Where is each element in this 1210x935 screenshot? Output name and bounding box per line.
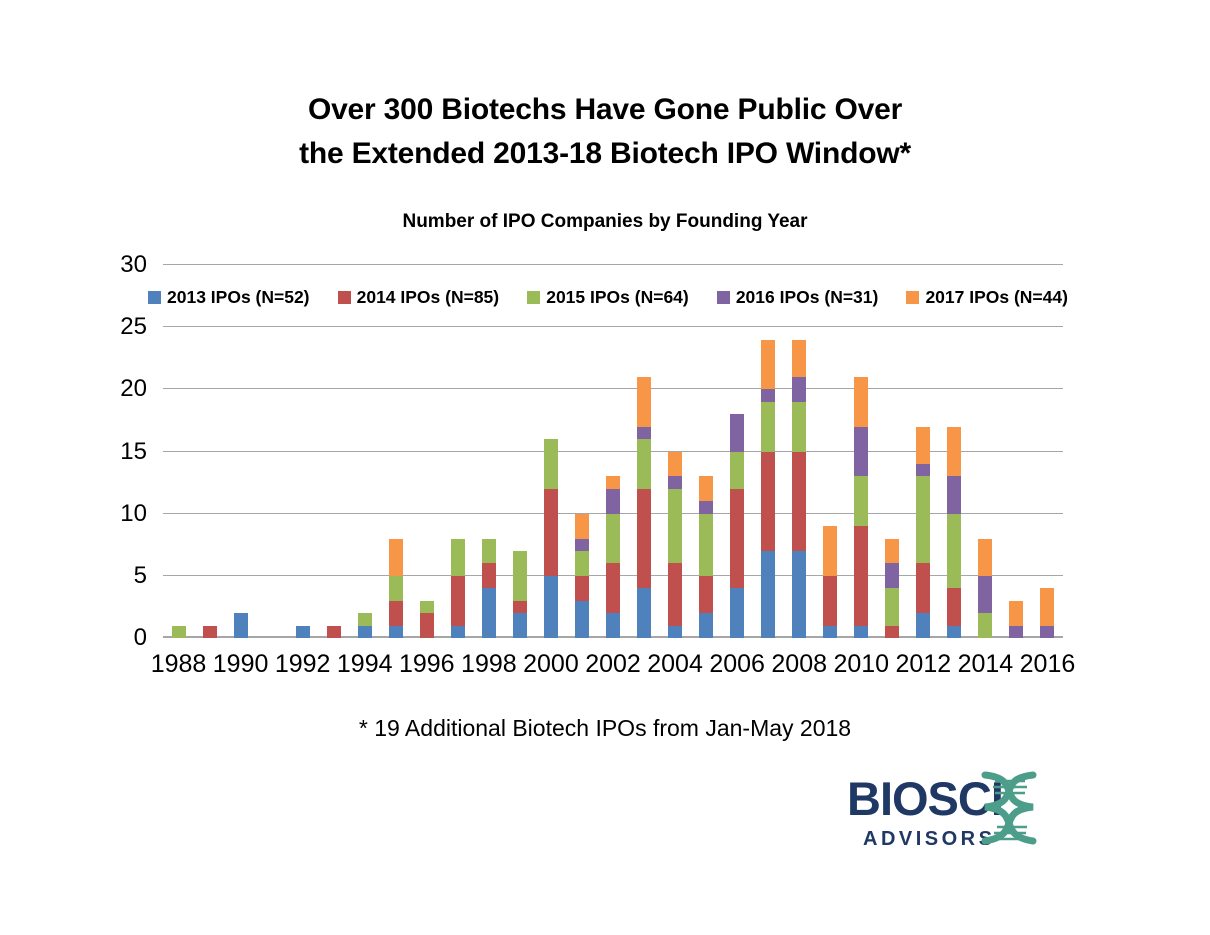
x-tick-label: 1998 xyxy=(454,649,524,679)
plot-area xyxy=(163,265,1063,638)
x-tick-label: 2016 xyxy=(1012,649,1082,679)
bar-segment[interactable] xyxy=(792,402,806,452)
bar-column[interactable] xyxy=(172,626,186,638)
title-line-1: Over 300 Biotechs Have Gone Public Over xyxy=(0,88,1210,132)
bar-segment[interactable] xyxy=(172,626,186,638)
logo-wordmark: BIOSCI xyxy=(847,772,1003,825)
x-tick-label: 1996 xyxy=(392,649,462,679)
bar-segment[interactable] xyxy=(761,389,775,401)
bar-segment[interactable] xyxy=(389,626,403,638)
bar-segment[interactable] xyxy=(606,563,620,613)
bar-column[interactable] xyxy=(668,452,682,638)
y-tick-label: 10 xyxy=(95,502,147,526)
bar-segment[interactable] xyxy=(513,613,527,638)
bar-segment[interactable] xyxy=(637,489,651,588)
legend-label: 2017 IPOs (N=44) xyxy=(925,289,1068,306)
y-tick-label: 25 xyxy=(95,315,147,339)
bar-column[interactable] xyxy=(730,414,744,638)
bar-segment[interactable] xyxy=(544,489,558,576)
bar-segment[interactable] xyxy=(575,514,589,539)
bar-segment[interactable] xyxy=(544,439,558,489)
bar-segment[interactable] xyxy=(575,601,589,638)
bar-segment[interactable] xyxy=(978,576,992,613)
bar-segment[interactable] xyxy=(854,427,868,477)
bar-segment[interactable] xyxy=(1009,626,1023,638)
bar-segment[interactable] xyxy=(854,476,868,526)
bar-segment[interactable] xyxy=(916,476,930,563)
bar-segment[interactable] xyxy=(668,563,682,625)
bar-segment[interactable] xyxy=(792,551,806,638)
bar-series-group xyxy=(163,265,1063,638)
bar-segment[interactable] xyxy=(482,588,496,638)
bar-segment[interactable] xyxy=(1040,626,1054,638)
bar-column[interactable] xyxy=(358,613,372,638)
bar-segment[interactable] xyxy=(885,626,899,638)
y-tick-label: 5 xyxy=(95,564,147,588)
bar-column[interactable] xyxy=(327,626,341,638)
biosci-advisors-logo: BIOSCI ADVISORS xyxy=(845,763,1120,858)
bar-segment[interactable] xyxy=(823,576,837,626)
legend-swatch-icon xyxy=(717,291,730,304)
page-title: Over 300 Biotechs Have Gone Public Over … xyxy=(0,88,1210,176)
bar-segment[interactable] xyxy=(606,476,620,488)
bar-segment[interactable] xyxy=(668,626,682,638)
legend-label: 2013 IPOs (N=52) xyxy=(167,289,310,306)
y-tick-label: 15 xyxy=(95,440,147,464)
bar-segment[interactable] xyxy=(730,452,744,489)
bar-segment[interactable] xyxy=(947,476,961,513)
legend-swatch-icon xyxy=(338,291,351,304)
x-tick-label: 2010 xyxy=(826,649,896,679)
chart-legend: 2013 IPOs (N=52)2014 IPOs (N=85)2015 IPO… xyxy=(148,284,1068,310)
bar-segment[interactable] xyxy=(203,626,217,638)
bar-segment[interactable] xyxy=(761,452,775,551)
bar-column[interactable] xyxy=(947,427,961,638)
x-tick-label: 1988 xyxy=(144,649,214,679)
bar-segment[interactable] xyxy=(885,563,899,588)
bar-segment[interactable] xyxy=(234,613,248,638)
x-tick-label: 2006 xyxy=(702,649,772,679)
x-tick-label: 2002 xyxy=(578,649,648,679)
legend-swatch-icon xyxy=(148,291,161,304)
bar-segment[interactable] xyxy=(296,626,310,638)
bar-segment[interactable] xyxy=(947,427,961,477)
bar-column[interactable] xyxy=(234,613,248,638)
bar-column[interactable] xyxy=(854,377,868,638)
bar-segment[interactable] xyxy=(420,613,434,638)
bar-segment[interactable] xyxy=(730,489,744,588)
bar-column[interactable] xyxy=(575,514,589,638)
bar-segment[interactable] xyxy=(699,576,713,613)
legend-item[interactable]: 2017 IPOs (N=44) xyxy=(906,289,1068,306)
bar-segment[interactable] xyxy=(854,626,868,638)
legend-swatch-icon xyxy=(527,291,540,304)
bar-segment[interactable] xyxy=(575,576,589,601)
bar-column[interactable] xyxy=(699,476,713,638)
bar-column[interactable] xyxy=(823,526,837,638)
x-tick-label: 2012 xyxy=(888,649,958,679)
legend-item[interactable]: 2013 IPOs (N=52) xyxy=(148,289,310,306)
bar-segment[interactable] xyxy=(699,476,713,501)
bar-segment[interactable] xyxy=(575,539,589,551)
bar-segment[interactable] xyxy=(792,340,806,377)
x-tick-label: 2004 xyxy=(640,649,710,679)
bar-column[interactable] xyxy=(978,539,992,638)
bar-segment[interactable] xyxy=(420,601,434,613)
bar-segment[interactable] xyxy=(575,551,589,576)
bar-segment[interactable] xyxy=(513,601,527,613)
bar-column[interactable] xyxy=(916,427,930,638)
bar-segment[interactable] xyxy=(947,626,961,638)
bar-segment[interactable] xyxy=(916,563,930,613)
bar-segment[interactable] xyxy=(358,626,372,638)
bar-segment[interactable] xyxy=(761,551,775,638)
bar-segment[interactable] xyxy=(668,489,682,564)
bar-column[interactable] xyxy=(1009,601,1023,638)
legend-swatch-icon xyxy=(906,291,919,304)
logo-svg: BIOSCI ADVISORS xyxy=(845,763,1120,858)
bar-segment[interactable] xyxy=(327,626,341,638)
title-line-2: the Extended 2013-18 Biotech IPO Window* xyxy=(0,132,1210,176)
bar-segment[interactable] xyxy=(699,514,713,576)
bar-segment[interactable] xyxy=(637,377,651,427)
bar-column[interactable] xyxy=(451,539,465,638)
bar-column[interactable] xyxy=(420,601,434,638)
bar-column[interactable] xyxy=(885,539,899,638)
bar-segment[interactable] xyxy=(637,588,651,638)
footnote: * 19 Additional Biotech IPOs from Jan-Ma… xyxy=(0,715,1210,742)
bar-segment[interactable] xyxy=(1040,588,1054,625)
bar-segment[interactable] xyxy=(916,427,930,464)
legend-item[interactable]: 2016 IPOs (N=31) xyxy=(717,289,879,306)
bar-segment[interactable] xyxy=(637,427,651,439)
bar-column[interactable] xyxy=(606,476,620,638)
x-tick-label: 1994 xyxy=(330,649,400,679)
x-tick-label: 2008 xyxy=(764,649,834,679)
bar-segment[interactable] xyxy=(792,452,806,551)
bar-segment[interactable] xyxy=(885,588,899,625)
legend-label: 2014 IPOs (N=85) xyxy=(357,289,500,306)
bar-segment[interactable] xyxy=(513,551,527,601)
bar-segment[interactable] xyxy=(451,576,465,626)
chart-subtitle: Number of IPO Companies by Founding Year xyxy=(0,211,1210,233)
bar-segment[interactable] xyxy=(544,576,558,638)
x-tick-label: 1992 xyxy=(268,649,338,679)
bar-segment[interactable] xyxy=(854,526,868,625)
x-tick-label: 2000 xyxy=(516,649,586,679)
y-tick-label: 0 xyxy=(95,626,147,650)
bar-segment[interactable] xyxy=(947,588,961,625)
bar-column[interactable] xyxy=(203,626,217,638)
bar-segment[interactable] xyxy=(916,464,930,476)
bar-column[interactable] xyxy=(792,340,806,638)
bar-segment[interactable] xyxy=(389,601,403,626)
x-tick-label: 1990 xyxy=(206,649,276,679)
y-tick-label: 20 xyxy=(95,377,147,401)
bar-segment[interactable] xyxy=(823,626,837,638)
bar-segment[interactable] xyxy=(606,613,620,638)
bar-segment[interactable] xyxy=(978,539,992,576)
bar-segment[interactable] xyxy=(389,539,403,576)
bar-segment[interactable] xyxy=(730,588,744,638)
bar-segment[interactable] xyxy=(637,439,651,489)
bar-segment[interactable] xyxy=(606,489,620,514)
bar-segment[interactable] xyxy=(885,539,899,564)
bar-segment[interactable] xyxy=(606,514,620,564)
legend-item[interactable]: 2014 IPOs (N=85) xyxy=(338,289,500,306)
bar-segment[interactable] xyxy=(451,539,465,576)
bar-segment[interactable] xyxy=(699,613,713,638)
bar-segment[interactable] xyxy=(482,563,496,588)
bar-column[interactable] xyxy=(296,626,310,638)
legend-item[interactable]: 2015 IPOs (N=64) xyxy=(527,289,689,306)
y-tick-label: 30 xyxy=(95,253,147,277)
bar-column[interactable] xyxy=(637,377,651,638)
bar-column[interactable] xyxy=(389,539,403,638)
bar-column[interactable] xyxy=(482,539,496,638)
legend-label: 2015 IPOs (N=64) xyxy=(546,289,689,306)
x-axis-labels: 1988199019921994199619982000200220042006… xyxy=(163,649,1063,681)
bar-segment[interactable] xyxy=(451,626,465,638)
bar-segment[interactable] xyxy=(761,402,775,452)
bar-segment[interactable] xyxy=(699,501,713,513)
bar-segment[interactable] xyxy=(916,613,930,638)
bar-segment[interactable] xyxy=(668,452,682,477)
bar-segment[interactable] xyxy=(730,414,744,451)
bar-column[interactable] xyxy=(1040,588,1054,638)
legend-label: 2016 IPOs (N=31) xyxy=(736,289,879,306)
bar-segment[interactable] xyxy=(482,539,496,564)
x-tick-label: 2014 xyxy=(950,649,1020,679)
bar-column[interactable] xyxy=(761,340,775,638)
bar-column[interactable] xyxy=(544,439,558,638)
logo-tagline: ADVISORS xyxy=(863,828,995,850)
bar-segment[interactable] xyxy=(823,526,837,576)
bar-segment[interactable] xyxy=(358,613,372,625)
bar-segment[interactable] xyxy=(978,613,992,638)
bar-segment[interactable] xyxy=(947,514,961,589)
bar-segment[interactable] xyxy=(1009,601,1023,626)
bar-segment[interactable] xyxy=(854,377,868,427)
slide: Over 300 Biotechs Have Gone Public Over … xyxy=(0,0,1210,935)
bar-segment[interactable] xyxy=(389,576,403,601)
bar-column[interactable] xyxy=(513,551,527,638)
bar-segment[interactable] xyxy=(792,377,806,402)
bar-segment[interactable] xyxy=(668,476,682,488)
bar-segment[interactable] xyxy=(761,340,775,390)
